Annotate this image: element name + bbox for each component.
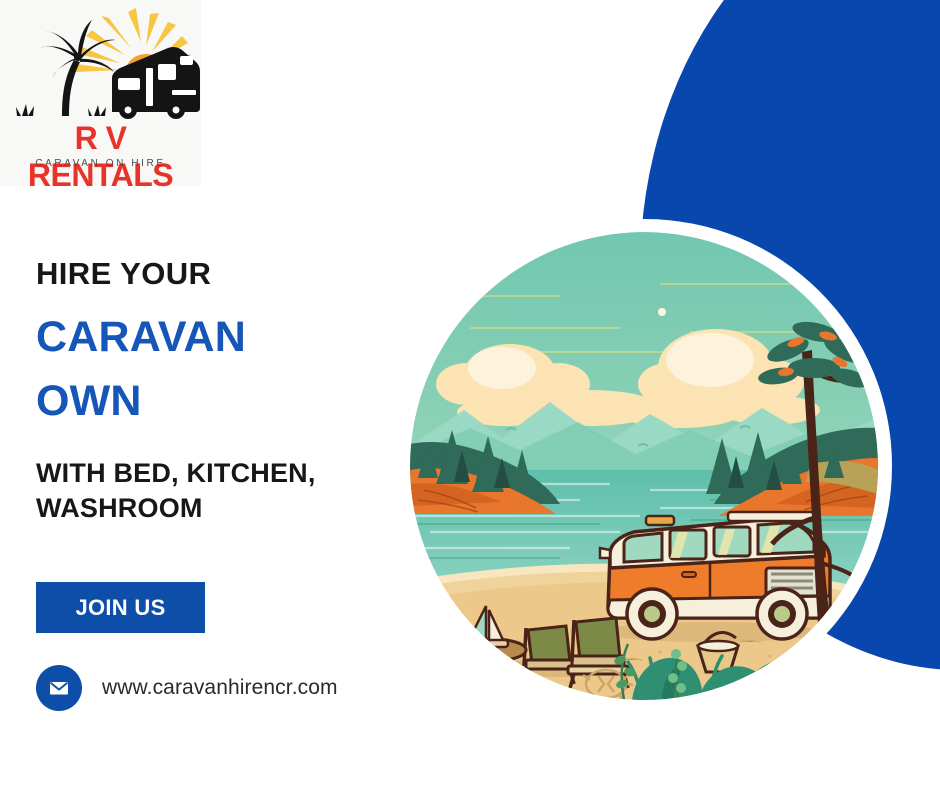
headline-line-caravan: CARAVAN [36, 315, 416, 360]
envelope-icon [36, 665, 82, 711]
logo-wordmark: R V RENTALS [0, 120, 201, 194]
palm-tree-sun-rv-logo-icon [0, 4, 201, 124]
headline-block: HIRE YOUR CARAVAN OWN WITH BED, KITCHEN,… [36, 258, 416, 526]
envelope-glyph [47, 676, 71, 700]
brand-logo: R V RENTALS CARAVAN ON HIRE [0, 0, 201, 186]
headline-line-features: WITH BED, KITCHEN, WASHROOM [36, 456, 386, 526]
beach-campervan-scene-svg [410, 232, 878, 700]
contact-row[interactable]: www.caravanhirencr.com [36, 665, 338, 711]
camper-van [600, 512, 830, 642]
beach-campervan-illustration [410, 232, 878, 700]
headline-line-own: OWN [36, 379, 416, 424]
logo-tagline: CARAVAN ON HIRE [0, 158, 201, 169]
join-us-button[interactable]: JOIN US [36, 582, 205, 633]
website-url[interactable]: www.caravanhirencr.com [102, 676, 338, 700]
headline-line-hire: HIRE YOUR [36, 258, 416, 289]
